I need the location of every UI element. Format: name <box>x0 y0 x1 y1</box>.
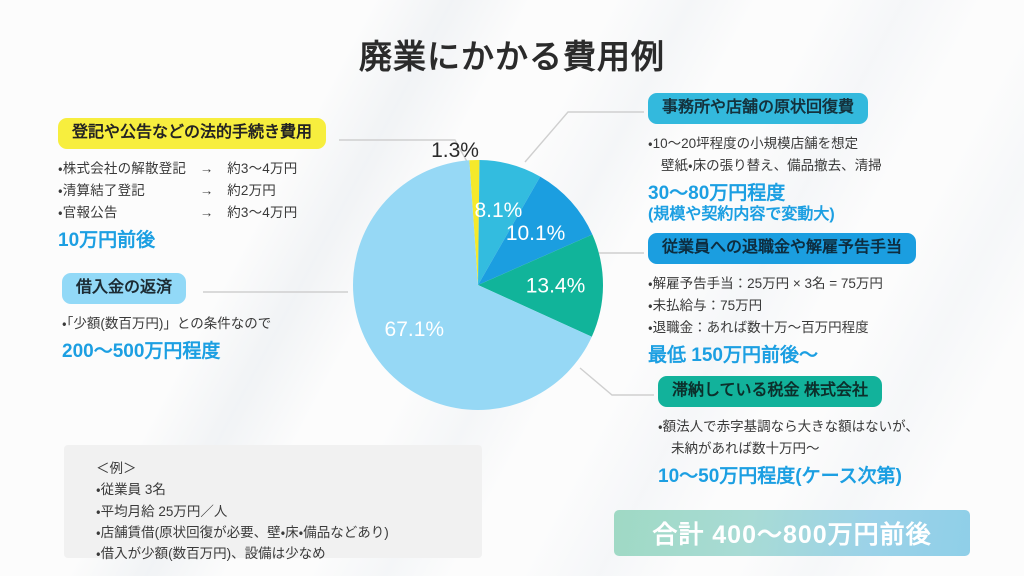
callout-line: ・解雇予告手当：25万円 × 3名 = 75万円 <box>648 273 916 295</box>
callout-line: ・清算結了登記 → 約2万円 <box>58 180 326 202</box>
callout-legal-lines: ・株式会社の解散登記 → 約3〜4万円 ・清算結了登記 → 約2万円 ・官報公告… <box>58 158 326 224</box>
callout-tax-lines: ・額法人で赤字基調なら大きな額はないが、 未納があれば数十万円〜 <box>658 416 919 460</box>
callout-legal-procedures: 登記や公告などの法的手続き費用 ・株式会社の解散登記 → 約3〜4万円 ・清算結… <box>58 118 326 252</box>
example-line: ・店舗賃借(原状回復が必要、壁・床・備品などあり) <box>96 522 482 543</box>
callout-restore-accent: 30〜80万円程度 (規模や契約内容で変動大) <box>648 182 882 225</box>
callout-line: 未納があれば数十万円〜 <box>658 438 919 460</box>
badge-unpaid-tax: 滞納している税金 株式会社 <box>658 376 882 407</box>
callout-line: ・10〜20坪程度の小規模店舗を想定 <box>648 133 882 155</box>
badge-loan-repayment: 借入金の返済 <box>62 273 186 304</box>
pie-slice-label: 10.1% <box>506 222 566 245</box>
callout-restore-accent-main: 30〜80万円程度 <box>648 183 785 204</box>
callout-line: 壁紙・床の張り替え、備品撤去、清掃 <box>648 155 882 177</box>
pie-slice-label: 8.1% <box>474 199 522 222</box>
callout-severance-pay: 従業員への退職金や解雇予告手当 ・解雇予告手当：25万円 × 3名 = 75万円… <box>648 233 916 367</box>
callout-line: ・額法人で赤字基調なら大きな額はないが、 <box>658 416 919 438</box>
example-assumptions-box: ＜例＞ ・従業員 3名 ・平均月給 25万円／人 ・店舗賃借(原状回復が必要、壁… <box>64 445 482 558</box>
example-line: ・従業員 3名 <box>96 479 482 500</box>
callout-unpaid-tax: 滞納している税金 株式会社 ・額法人で赤字基調なら大きな額はないが、 未納があれ… <box>658 376 919 488</box>
callout-loan-accent: 200〜500万円程度 <box>62 340 271 363</box>
callout-line: ・「少額(数百万円)」との条件なので <box>62 313 271 335</box>
badge-restoration-cost: 事務所や店舗の原状回復費 <box>648 93 868 124</box>
callout-severance-accent: 最低 150万円前後〜 <box>648 344 916 367</box>
infographic-canvas: 廃業にかかる費用例 1.3%8.1%10.1%13.4%67.1% 登記や公告な… <box>0 0 1024 576</box>
callout-severance-lines: ・解雇予告手当：25万円 × 3名 = 75万円 ・未払給与：75万円 ・退職金… <box>648 273 916 339</box>
callout-restore-accent-sub: (規模や契約内容で変動大) <box>648 205 882 225</box>
callout-line: ・株式会社の解散登記 → 約3〜4万円 <box>58 158 326 180</box>
pie-chart-svg: 1.3%8.1%10.1%13.4%67.1% <box>353 160 603 410</box>
example-line: ・借入が少額(数百万円)、設備は少なめ <box>96 543 482 564</box>
total-banner: 合計 400〜800万円前後 <box>614 510 970 556</box>
callout-loan-repayment: 借入金の返済 ・「少額(数百万円)」との条件なので 200〜500万円程度 <box>62 273 271 363</box>
callout-restore-lines: ・10〜20坪程度の小規模店舗を想定 壁紙・床の張り替え、備品撤去、清掃 <box>648 133 882 177</box>
pie-chart: 1.3%8.1%10.1%13.4%67.1% <box>353 160 603 410</box>
leader-restore <box>525 112 644 162</box>
example-heading: ＜例＞ <box>96 458 482 479</box>
callout-loan-lines: ・「少額(数百万円)」との条件なので <box>62 313 271 335</box>
badge-legal-procedures: 登記や公告などの法的手続き費用 <box>58 118 326 149</box>
pie-slice-label: 1.3% <box>431 139 479 162</box>
callout-tax-accent: 10〜50万円程度(ケース次第) <box>658 465 919 488</box>
callout-line: ・官報公告 → 約3〜4万円 <box>58 202 326 224</box>
callout-legal-accent: 10万円前後 <box>58 229 326 252</box>
total-banner-text: 合計 400〜800万円前後 <box>652 515 931 551</box>
callout-restoration-cost: 事務所や店舗の原状回復費 ・10〜20坪程度の小規模店舗を想定 壁紙・床の張り替… <box>648 93 882 225</box>
pie-slice-label: 13.4% <box>526 274 586 297</box>
pie-slice-label: 67.1% <box>385 318 445 341</box>
callout-line: ・退職金：あれば数十万〜百万円程度 <box>648 317 916 339</box>
example-line: ・平均月給 25万円／人 <box>96 501 482 522</box>
badge-severance-pay: 従業員への退職金や解雇予告手当 <box>648 233 916 264</box>
callout-line: ・未払給与：75万円 <box>648 295 916 317</box>
